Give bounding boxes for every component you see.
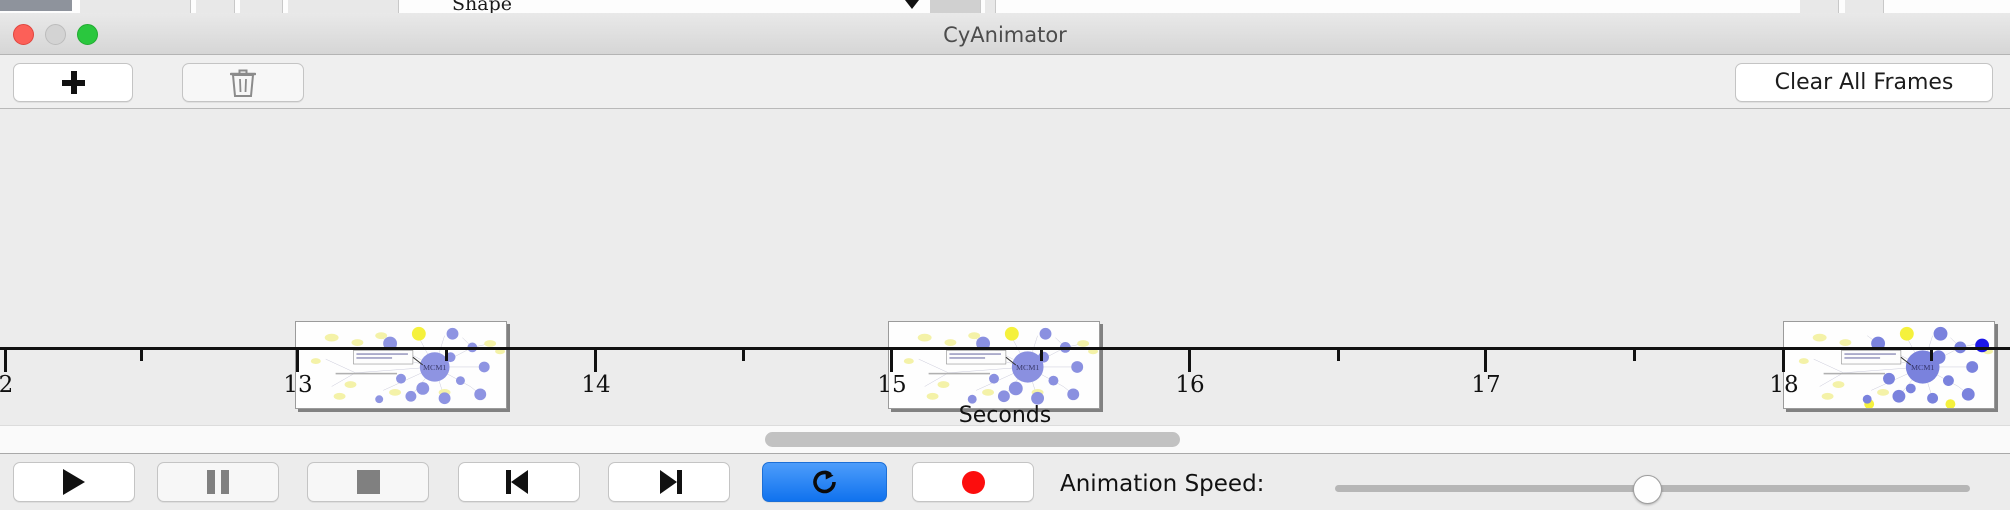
axis-title: Seconds: [0, 403, 2010, 425]
window-title: CyAnimator: [0, 23, 2010, 47]
loop-icon: [811, 468, 839, 496]
background-tab: [288, 0, 399, 13]
record-button[interactable]: [912, 462, 1034, 502]
ruler-tick: [594, 350, 597, 372]
background-tab: [240, 0, 283, 13]
background-tab: [80, 0, 191, 13]
animation-speed-slider-thumb[interactable]: [1633, 475, 1662, 504]
background-window-label: Shape: [452, 0, 512, 14]
skip-back-icon: [506, 470, 532, 494]
ruler-tick-label: 15: [877, 372, 906, 398]
next-frame-button[interactable]: [608, 462, 730, 502]
ruler-tick-label: 18: [1769, 372, 1798, 398]
ruler-tick: [1337, 350, 1340, 361]
svg-text:MCM1: MCM1: [423, 363, 446, 372]
ruler-tick-label: 13: [283, 372, 312, 398]
ruler-tick: [1930, 350, 1933, 361]
frame-thumbnail[interactable]: MCM1: [888, 321, 1100, 409]
frame-thumbnail[interactable]: MCM1: [295, 321, 507, 409]
network-thumbnail-icon: MCM1: [296, 322, 506, 408]
svg-text:MCM1: MCM1: [1911, 363, 1934, 372]
toolbar: Clear All Frames: [0, 55, 2010, 109]
ruler-tick: [445, 350, 448, 361]
background-window-strip: Shape: [0, 0, 2010, 14]
add-frame-button[interactable]: [13, 63, 133, 102]
network-thumbnail-icon: MCM1: [1784, 322, 1994, 408]
stop-icon: [357, 470, 380, 494]
trash-icon: [230, 68, 256, 98]
network-thumbnail-icon: MCM1: [889, 322, 1099, 408]
loop-button[interactable]: [762, 462, 887, 502]
background-tab: [985, 0, 996, 13]
ruler-tick: [1633, 350, 1636, 361]
ruler-tick: [742, 350, 745, 361]
clear-all-frames-button[interactable]: Clear All Frames: [1735, 63, 1993, 102]
ruler-tick-label: 17: [1471, 372, 1500, 398]
ruler-tick: [1040, 350, 1043, 361]
background-window-titlebar: [0, 0, 72, 11]
record-icon: [962, 471, 985, 494]
ruler-tick: [1484, 350, 1487, 372]
ruler-tick-label: 14: [581, 372, 610, 398]
title-bar: CyAnimator: [0, 13, 2010, 55]
play-icon: [63, 469, 85, 495]
skip-forward-icon: [656, 470, 682, 494]
ruler-tick: [296, 350, 299, 372]
frame-thumbnail[interactable]: MCM1: [1783, 321, 1995, 409]
cyanimator-window: CyAnimator Clear All Frames: [0, 13, 2010, 510]
animation-speed-label: Animation Speed:: [1060, 471, 1264, 497]
background-tab: [930, 0, 981, 13]
horizontal-scrollbar[interactable]: [0, 425, 2010, 454]
play-button[interactable]: [13, 462, 135, 502]
ruler-tick: [1188, 350, 1191, 372]
background-tab: [1800, 0, 1839, 13]
ruler-tick: [890, 350, 893, 372]
stop-button[interactable]: [307, 462, 429, 502]
pause-button[interactable]: [157, 462, 279, 502]
ruler-tick: [140, 350, 143, 361]
background-caret-icon: [905, 0, 919, 9]
ruler-tick: [1782, 350, 1785, 372]
pause-icon: [207, 470, 229, 494]
delete-frame-button[interactable]: [182, 63, 304, 102]
background-tab: [1845, 0, 1884, 13]
timeline-panel[interactable]: MCM1: [0, 109, 2010, 425]
svg-text:MCM1: MCM1: [1016, 363, 1039, 372]
timeline-ruler: [0, 347, 2010, 350]
scrollbar-thumb[interactable]: [765, 432, 1180, 447]
ruler-tick: [4, 350, 7, 372]
background-tab: [196, 0, 235, 13]
playback-controls: Animation Speed:: [0, 454, 2010, 510]
ruler-tick-label: 2: [0, 372, 13, 398]
plus-icon: [62, 71, 85, 94]
ruler-tick-label: 16: [1175, 372, 1204, 398]
previous-frame-button[interactable]: [458, 462, 580, 502]
